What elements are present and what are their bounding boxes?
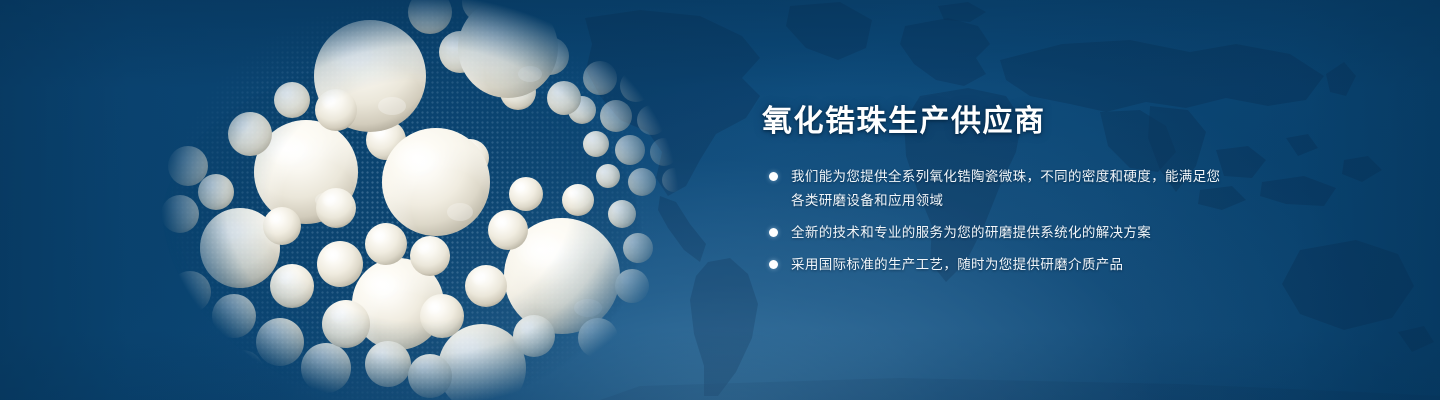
bullet-text: 采用国际标准的生产工艺，随时为您提供研磨介质产品 — [791, 257, 1123, 272]
banner-headline: 氧化锆珠生产供应商 — [762, 104, 1232, 139]
bullet-dot-icon — [769, 228, 778, 237]
bullet-dot-icon — [769, 260, 778, 269]
bullet-dot-icon — [769, 172, 778, 181]
list-item: 全新的技术和专业的服务为您的研磨提供系统化的解决方案 — [762, 221, 1232, 244]
bullet-text: 我们能为您提供全系列氧化锆陶瓷微珠，不同的密度和硬度，能满足您各类研磨设备和应用… — [791, 169, 1220, 207]
feature-bullet-list: 我们能为您提供全系列氧化锆陶瓷微珠，不同的密度和硬度，能满足您各类研磨设备和应用… — [762, 165, 1232, 276]
banner-copy: 氧化锆珠生产供应商 我们能为您提供全系列氧化锆陶瓷微珠，不同的密度和硬度，能满足… — [762, 104, 1232, 276]
bullet-text: 全新的技术和专业的服务为您的研磨提供系统化的解决方案 — [791, 225, 1151, 240]
zirconia-beads-photo — [130, 0, 710, 400]
list-item: 采用国际标准的生产工艺，随时为您提供研磨介质产品 — [762, 253, 1232, 276]
hero-banner: 氧化锆珠生产供应商 我们能为您提供全系列氧化锆陶瓷微珠，不同的密度和硬度，能满足… — [0, 0, 1440, 400]
list-item: 我们能为您提供全系列氧化锆陶瓷微珠，不同的密度和硬度，能满足您各类研磨设备和应用… — [762, 165, 1232, 211]
